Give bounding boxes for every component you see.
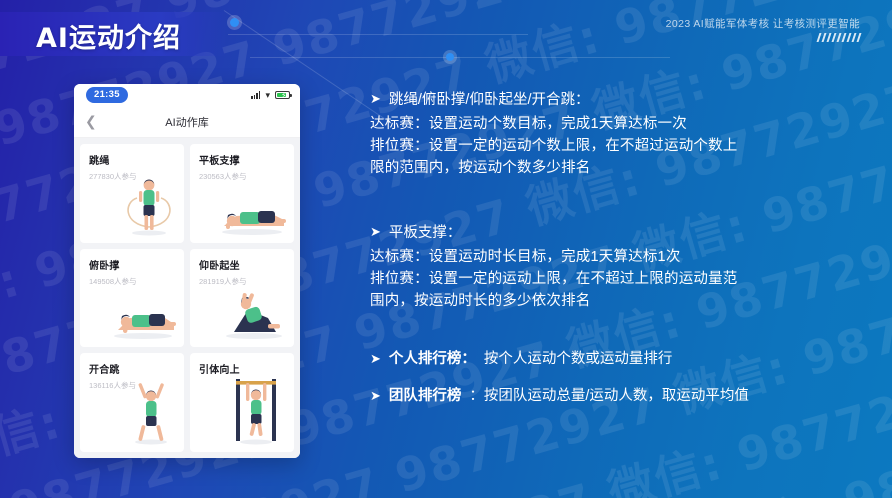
jumping-jack-figure: [122, 379, 180, 450]
action-card-participants: 149508人参与: [89, 276, 184, 287]
block-line: 达标赛：设置运动个数目标，完成1天算达标一次: [370, 113, 874, 135]
ranking-text: 按个人运动个数或运动量排行: [484, 348, 673, 371]
arrow-bullet-icon: ➤: [370, 90, 381, 110]
watermark-line: 微信: 98772927 98772927 微信: 98772927 98772…: [0, 478, 892, 498]
action-card[interactable]: 平板支撑 230563人参与: [190, 144, 294, 243]
situp-figure: [218, 288, 290, 345]
header-tagline: 2023 AI赋能军体考核 让考核测评更智能: [666, 16, 860, 31]
action-card[interactable]: 俯卧撑 149508人参与: [80, 249, 184, 348]
decor-node-icon: [230, 18, 239, 27]
decor-node-icon: [446, 53, 454, 61]
block-line: 排位赛：设置一定的运动上限，在不超过上限的运动量范: [370, 268, 874, 290]
jump-rope-figure: [118, 172, 180, 241]
block-line: 限的范围内，按运动个数多少排名: [370, 157, 874, 179]
content-block: ➤ 平板支撑： 达标赛：设置运动时长目标，完成1天算达标1次 排位赛：设置一定的…: [370, 223, 874, 312]
arrow-bullet-icon: ➤: [370, 223, 381, 243]
action-card[interactable]: 跳绳 277830人参与: [80, 144, 184, 243]
wifi-icon: ▾: [265, 91, 270, 100]
phone-nav-bar: ❮ AI动作库: [74, 106, 300, 138]
slash-decor-icon: [818, 33, 860, 42]
ranking-text: ：按团队运动总量/运动人数，取运动平均值: [469, 385, 749, 408]
content-column: ➤ 跳绳/俯卧撑/仰卧起坐/开合跳： 达标赛：设置运动个数目标，完成1天算达标一…: [370, 90, 874, 422]
block-heading-text: 跳绳/俯卧撑/仰卧起坐/开合跳：: [389, 90, 590, 112]
action-card[interactable]: 开合跳 136116人参与: [80, 353, 184, 452]
block-heading: ➤ 平板支撑：: [370, 223, 874, 245]
phone-mockup: 21:35 ▾ ⚡ ❮ AI动作库 跳绳 277830人参与: [74, 84, 300, 458]
action-card-title: 平板支撑: [199, 152, 294, 167]
plank-figure: [214, 190, 290, 241]
status-time: 21:35: [86, 87, 128, 103]
arrow-bullet-icon: ➤: [370, 387, 381, 407]
action-card[interactable]: 引体向上: [190, 353, 294, 452]
ranking-label: 团队排行榜: [389, 385, 462, 408]
pushup-figure: [106, 292, 180, 345]
ranking-list: ➤ 个人排行榜： 按个人运动个数或运动量排行 ➤ 团队排行榜 ：按团队运动总量/…: [370, 348, 874, 408]
block-line: 排位赛：设置一定的运动个数上限，在不超过运动个数上: [370, 135, 874, 157]
block-line: 围内，按运动时长的多少依次排名: [370, 290, 874, 312]
decor-line: [250, 57, 670, 58]
block-heading: ➤ 跳绳/俯卧撑/仰卧起坐/开合跳：: [370, 90, 874, 112]
block-heading-text: 平板支撑：: [389, 223, 462, 245]
signal-bars-icon: [251, 91, 260, 99]
slide-canvas: 微信: 98772927 98772927 微信: 98772927 98772…: [0, 0, 892, 498]
pullup-figure: [220, 373, 290, 450]
ranking-item: ➤ 个人排行榜： 按个人运动个数或运动量排行: [370, 348, 874, 371]
ranking-label: 个人排行榜：: [389, 348, 476, 371]
block-line: 达标赛：设置运动时长目标，完成1天算达标1次: [370, 246, 874, 268]
arrow-bullet-icon: ➤: [370, 350, 381, 370]
status-icons: ▾ ⚡: [251, 91, 290, 100]
action-card-title: 仰卧起坐: [199, 257, 294, 272]
phone-status-bar: 21:35 ▾ ⚡: [74, 84, 300, 106]
page-title: AI运动介绍: [36, 16, 181, 55]
content-block: ➤ 跳绳/俯卧撑/仰卧起坐/开合跳： 达标赛：设置运动个数目标，完成1天算达标一…: [370, 90, 874, 179]
chevron-left-icon[interactable]: ❮: [85, 115, 97, 129]
ranking-item: ➤ 团队排行榜 ：按团队运动总量/运动人数，取运动平均值: [370, 385, 874, 408]
action-card-title: 俯卧撑: [89, 257, 184, 272]
action-library-grid: 跳绳 277830人参与: [74, 138, 300, 458]
action-card-title: 开合跳: [89, 361, 184, 376]
action-card-participants: 281919人参与: [199, 276, 294, 287]
action-card-participants: 230563人参与: [199, 171, 294, 182]
battery-charging-icon: ⚡: [275, 91, 290, 99]
phone-nav-title: AI动作库: [74, 114, 300, 130]
action-card-title: 跳绳: [89, 152, 184, 167]
decor-line: [228, 34, 528, 35]
action-card[interactable]: 仰卧起坐 281919人参与: [190, 249, 294, 348]
